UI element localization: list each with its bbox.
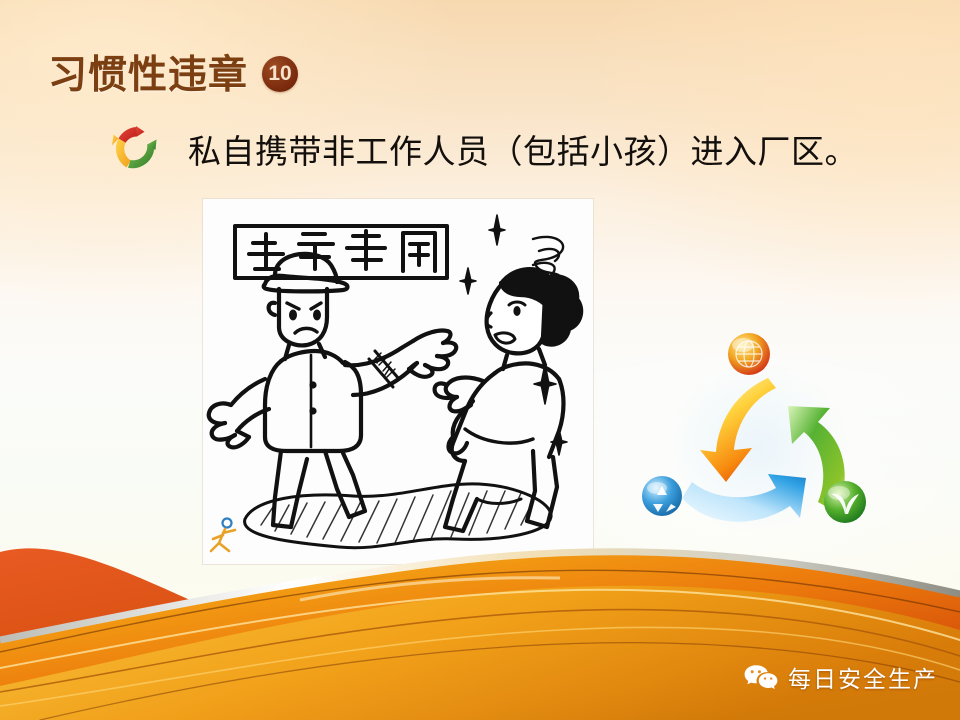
page-title: 习惯性违章 10 (48, 44, 298, 100)
status-badge: 10 (262, 56, 298, 92)
watermark-label: 每日安全生产 (788, 660, 938, 694)
page-title-text: 习惯性违章 (48, 44, 248, 100)
red-globe-sphere (728, 333, 770, 375)
bullet-item: 私自携带非工作人员（包括小孩）进入厂区。 (110, 122, 858, 176)
watermark: 每日安全生产 (744, 660, 938, 694)
slide-canvas: 习惯性违章 10 (0, 0, 960, 720)
recycle-cycle-icon (110, 122, 164, 176)
wechat-icon (744, 664, 778, 691)
bullet-item-label: 私自携带非工作人员（包括小孩）进入厂区。 (188, 125, 858, 173)
